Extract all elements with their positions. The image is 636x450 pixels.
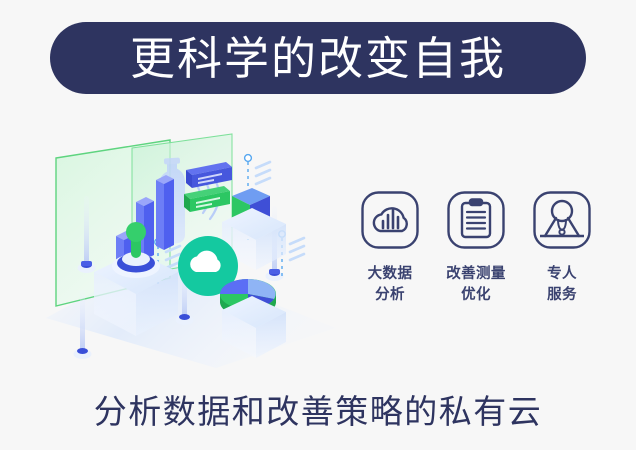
poster-root: 更科学的改变自我 (0, 0, 636, 450)
doctor-person-icon (532, 190, 592, 250)
feature-label: 专人 服务 (547, 264, 577, 306)
feature-list: 大数据 分析 改善测量 优化 (352, 190, 600, 330)
bar-3 (156, 175, 174, 250)
feature-big-data-analysis[interactable]: 大数据 分析 (352, 190, 428, 306)
feature-label-line-1: 改善测量 (446, 264, 506, 285)
feature-label-line-2: 服务 (547, 285, 577, 306)
feature-label-line-2: 优化 (446, 285, 506, 306)
isometric-illustration (36, 118, 356, 368)
tagline: 分析数据和改善策略的私有云 (0, 385, 636, 433)
feature-label-line-2: 分析 (368, 285, 413, 306)
clipboard-icon (446, 190, 506, 250)
page-title: 更科学的改变自我 (130, 36, 506, 81)
title-banner: 更科学的改变自我 (50, 22, 586, 94)
feature-label: 改善测量 优化 (446, 264, 506, 306)
cloud-bar-chart-icon (360, 190, 420, 250)
feature-label: 大数据 分析 (368, 264, 413, 306)
feature-label-line-1: 大数据 (368, 264, 413, 285)
feature-dedicated-service[interactable]: 专人 服务 (524, 190, 600, 306)
feature-improvement-measurement[interactable]: 改善测量 优化 (438, 190, 514, 306)
feature-label-line-1: 专人 (547, 264, 577, 285)
